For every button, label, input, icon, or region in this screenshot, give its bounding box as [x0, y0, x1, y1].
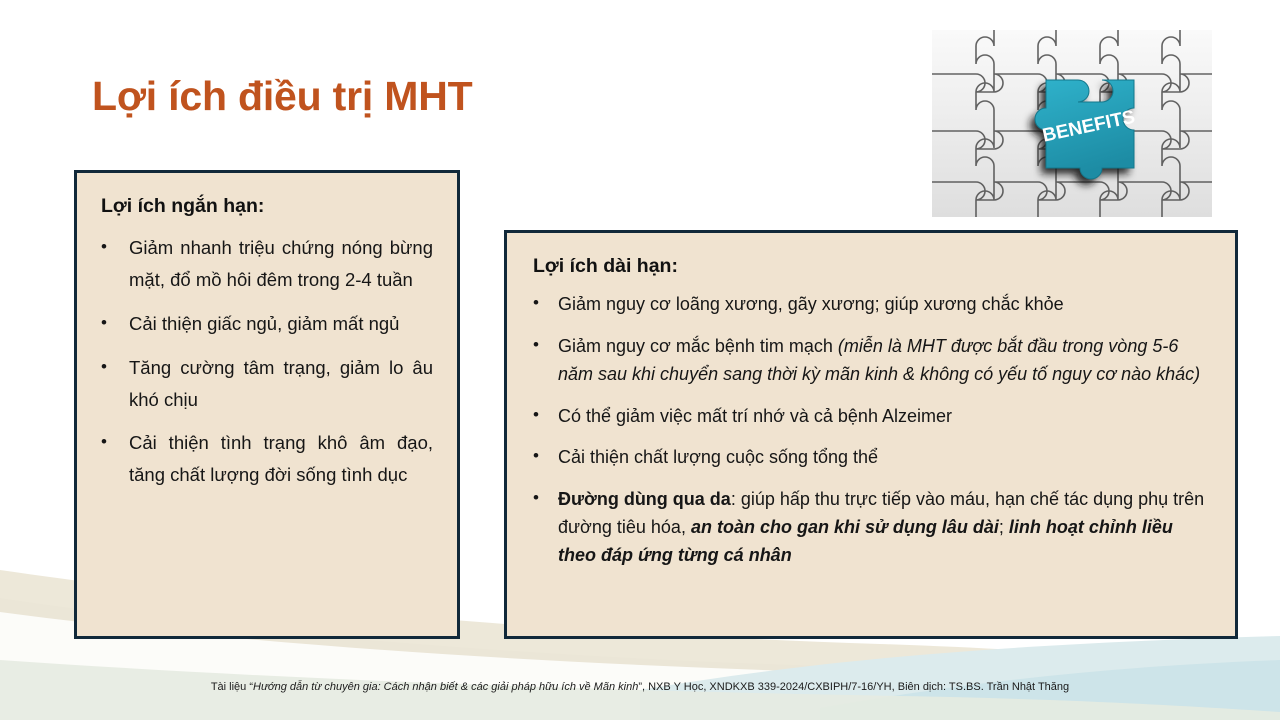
bullet-icon: • [101, 427, 115, 456]
list-item: • Cải thiện tình trạng khô âm đạo, tăng … [101, 427, 433, 491]
long-term-benefits-box: Lợi ích dài hạn: • Giảm nguy cơ loãng xư… [504, 230, 1238, 639]
bullet-icon: • [101, 352, 115, 381]
page-title: Lợi ích điều trị MHT [92, 73, 472, 120]
short-term-benefits-list: • Giảm nhanh triệu chứng nóng bừng mặt, … [101, 232, 433, 491]
bullet-icon: • [101, 232, 115, 261]
bullet-icon: • [533, 290, 547, 317]
list-item: • Tăng cường tâm trạng, giảm lo âu khó c… [101, 352, 433, 416]
list-item: • Có thể giảm việc mất trí nhớ và cả bện… [533, 402, 1209, 430]
list-item: • Giảm nguy cơ mắc bệnh tim mạch (miễn l… [533, 332, 1209, 389]
list-item-text: Đường dùng qua da: giúp hấp thu trực tiế… [558, 485, 1209, 570]
list-item-text: Cải thiện giấc ngủ, giảm mất ngủ [129, 308, 433, 340]
short-term-heading: Lợi ích ngắn hạn: [101, 195, 433, 218]
list-item: • Cải thiện giấc ngủ, giảm mất ngủ [101, 308, 433, 340]
source-citation: Tài liệu “Hướng dẫn từ chuyên gia: Cách … [0, 681, 1280, 695]
list-item-text: Tăng cường tâm trạng, giảm lo âu khó chị… [129, 352, 433, 416]
bullet-icon: • [533, 332, 547, 359]
bullet-icon: • [533, 485, 547, 512]
list-item-text: Giảm nguy cơ loãng xương, gãy xương; giú… [558, 290, 1209, 318]
long-term-heading: Lợi ích dài hạn: [533, 255, 1209, 278]
list-item: • Giảm nguy cơ loãng xương, gãy xương; g… [533, 290, 1209, 318]
list-item: • Cải thiện chất lượng cuộc sống tổng th… [533, 443, 1209, 471]
benefits-puzzle-image: BENEFITS [932, 30, 1212, 217]
list-item: • Đường dùng qua da: giúp hấp thu trực t… [533, 485, 1209, 570]
list-item-text: Giảm nhanh triệu chứng nóng bừng mặt, đổ… [129, 232, 433, 296]
list-item-text: Cải thiện tình trạng khô âm đạo, tăng ch… [129, 427, 433, 491]
long-term-benefits-list: • Giảm nguy cơ loãng xương, gãy xương; g… [533, 290, 1209, 570]
list-item-text: Cải thiện chất lượng cuộc sống tổng thể [558, 443, 1209, 471]
short-term-benefits-box: Lợi ích ngắn hạn: • Giảm nhanh triệu chứ… [74, 170, 460, 639]
slide-canvas: Lợi ích điều trị MHT [0, 0, 1280, 720]
list-item-text: Có thể giảm việc mất trí nhớ và cả bệnh … [558, 402, 1209, 430]
list-item: • Giảm nhanh triệu chứng nóng bừng mặt, … [101, 232, 433, 296]
list-item-text: Giảm nguy cơ mắc bệnh tim mạch (miễn là … [558, 332, 1209, 389]
bullet-icon: • [533, 443, 547, 470]
bullet-icon: • [533, 402, 547, 429]
bullet-icon: • [101, 308, 115, 337]
